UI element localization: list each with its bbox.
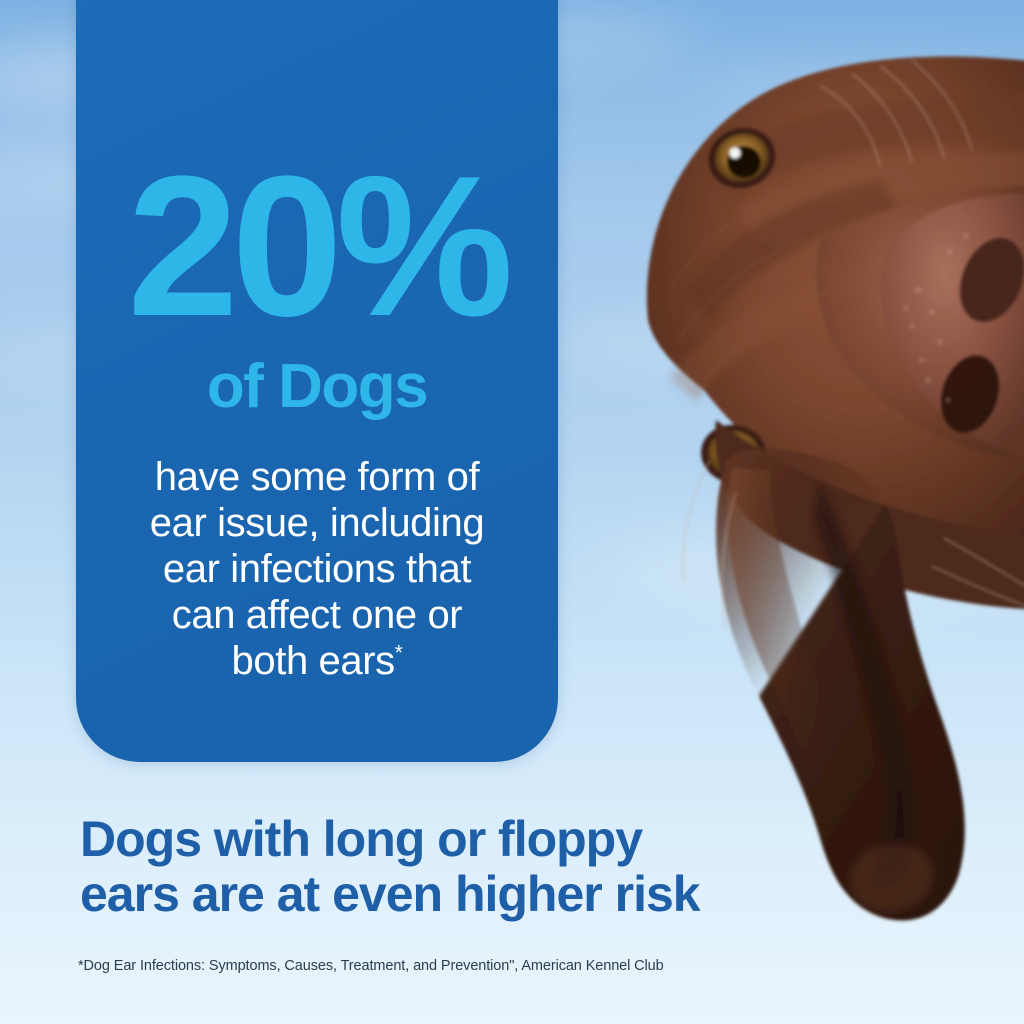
source-footnote: *Dog Ear Infections: Symptoms, Causes, T… <box>78 957 838 976</box>
stat-percentage: 20% <box>94 0 540 322</box>
headline-line-1: Dogs with long or floppy <box>80 811 642 867</box>
stat-body-line-5: both ears <box>232 639 395 683</box>
headline-line-2: ears are at even higher risk <box>80 866 700 922</box>
stat-body-line-3: ear infections that <box>163 547 471 591</box>
bottom-headline: Dogs with long or floppy ears are at eve… <box>80 812 780 922</box>
stat-body-line-4: can affect one or <box>172 593 462 637</box>
footnote-marker: * <box>395 642 403 665</box>
stat-body-text: have some form of ear issue, including e… <box>94 418 540 684</box>
stat-card-panel: 20% of Dogs have some form of ear issue,… <box>76 0 558 762</box>
stat-body-line-1: have some form of <box>155 455 479 499</box>
stat-card-content: 20% of Dogs have some form of ear issue,… <box>76 0 558 762</box>
poster-canvas: 20% of Dogs have some form of ear issue,… <box>0 0 1024 1024</box>
stat-body-line-2: ear issue, including <box>150 501 484 545</box>
